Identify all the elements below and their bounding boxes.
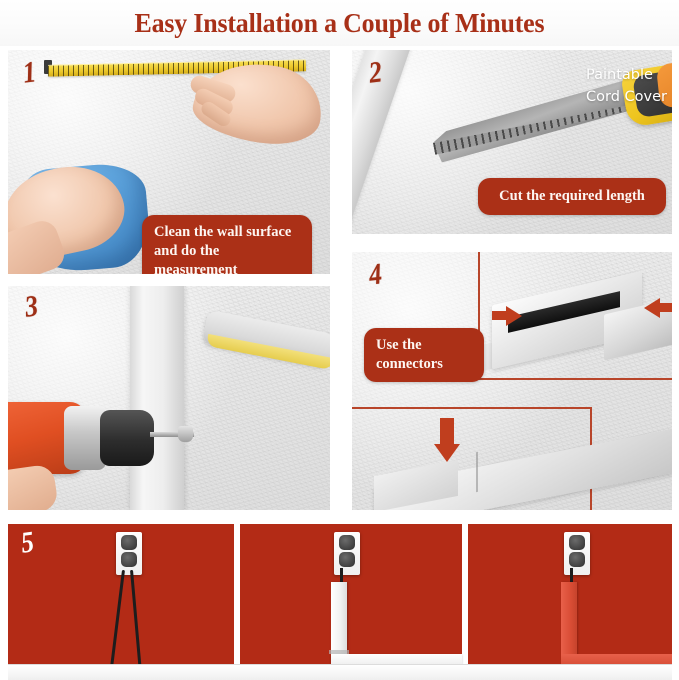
baseboard: [8, 664, 672, 680]
divider-line: [234, 524, 240, 676]
connector-seam-icon: [476, 452, 478, 492]
caption-badge: Cut the required length: [478, 178, 666, 215]
paintable-cord-cover-label: PaintableCord Cover: [586, 64, 667, 109]
plug-icon: [339, 535, 355, 550]
divider-line: [352, 407, 592, 409]
plug-icon: [339, 552, 355, 567]
panel-mount-step: 3 Use screw on textured wall Use pre-app…: [8, 286, 330, 510]
caption-badge: Clean the wall surface and do the measur…: [142, 215, 312, 274]
plug-icon: [121, 552, 137, 567]
header: Easy Installation a Couple of Minutes: [0, 0, 679, 46]
page-title: Easy Installation a Couple of Minutes: [135, 8, 545, 39]
drill-chuck-icon: [100, 410, 154, 466]
panel-measure-step: 1 Clean the wall surface and do the meas…: [8, 50, 330, 274]
screw-icon: [178, 426, 193, 442]
arrow-down-icon: [440, 418, 454, 446]
caption-badge: Use the connectors: [364, 328, 484, 382]
cord-cover-icon: [130, 286, 184, 510]
divider-line: [462, 524, 468, 676]
panel-connector-step: 4 Use the connectors: [352, 252, 672, 510]
cord-cover-joint-icon: [329, 650, 349, 654]
plug-icon: [569, 552, 585, 567]
divider-line: [478, 378, 672, 380]
paintable-cord-cover-label-line1: PaintableCord Cover: [586, 64, 667, 109]
arrow-left-icon: [644, 298, 660, 318]
panel-result-step: 5: [8, 524, 672, 676]
plug-icon: [121, 535, 137, 550]
arrow-right-icon: [506, 306, 522, 326]
plug-icon: [569, 535, 585, 550]
arrow-left-icon: [658, 303, 672, 312]
arrow-down-icon: [434, 444, 460, 462]
